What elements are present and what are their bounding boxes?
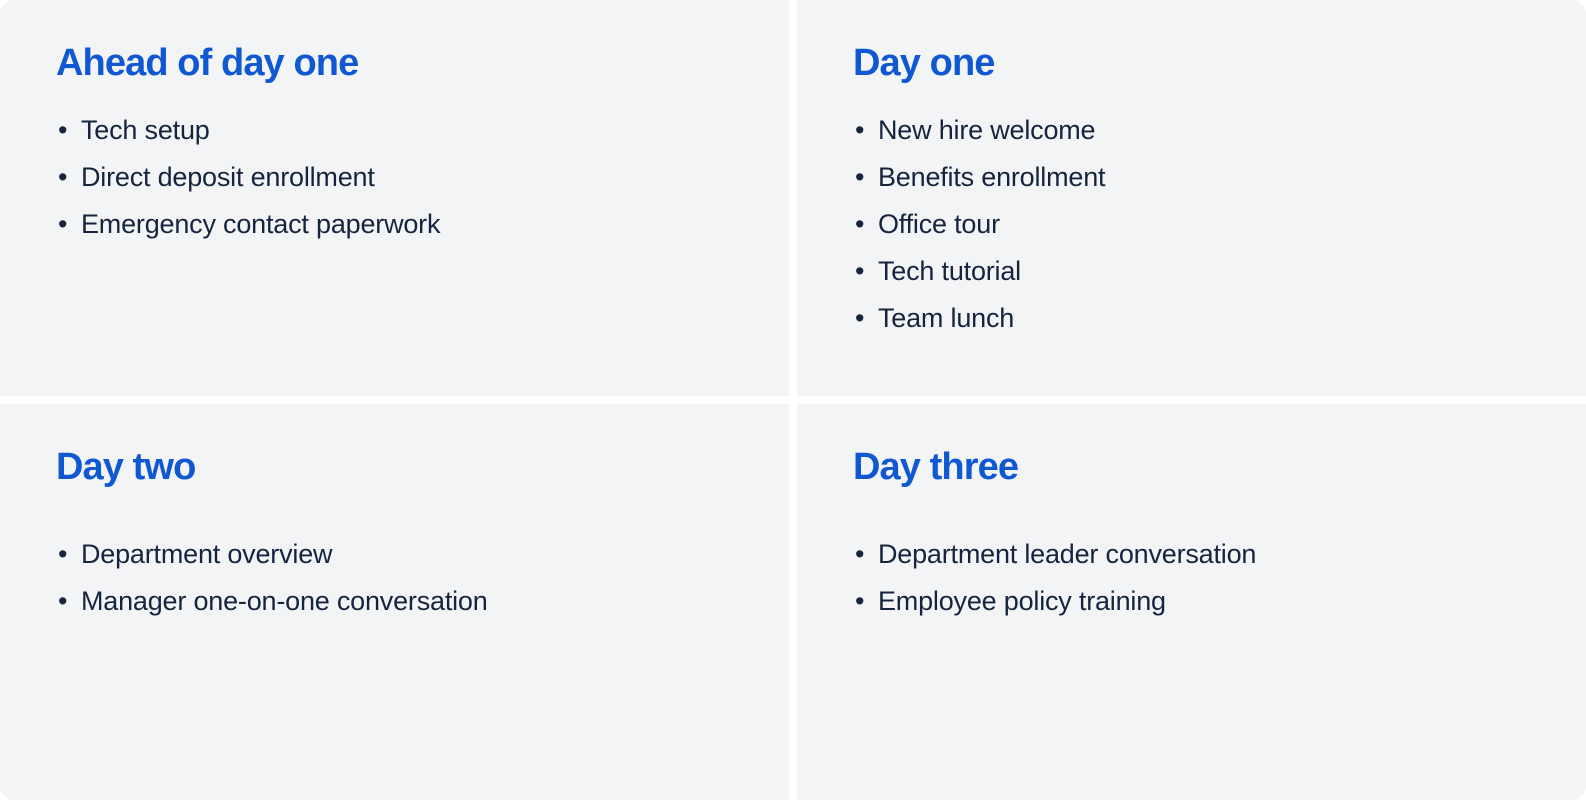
bullet-icon: • [58, 531, 67, 578]
bullet-icon: • [58, 154, 67, 201]
list-item-label: Emergency contact paperwork [81, 209, 440, 239]
bullet-icon: • [855, 295, 864, 342]
bullet-icon: • [855, 531, 864, 578]
list-item-label: Department leader conversation [878, 539, 1256, 569]
list-item: • Department leader conversation [853, 531, 1546, 578]
list-item: • Emergency contact paperwork [56, 201, 749, 248]
bullet-icon: • [58, 201, 67, 248]
panel-day-three: Day three • Department leader conversati… [797, 404, 1586, 800]
list-item: • Direct deposit enrollment [56, 154, 749, 201]
list-item-label: Department overview [81, 539, 332, 569]
panel-list-day-one: • New hire welcome • Benefits enrollment… [853, 107, 1546, 342]
onboarding-timeline-board: Ahead of day one • Tech setup • Direct d… [0, 0, 1586, 800]
list-item: • New hire welcome [853, 107, 1546, 154]
panel-list-ahead-of-day-one: • Tech setup • Direct deposit enrollment… [56, 107, 749, 248]
list-item-label: Benefits enrollment [878, 162, 1105, 192]
list-item: • Manager one-on-one conversation [56, 578, 749, 625]
list-item-label: Employee policy training [878, 586, 1166, 616]
panel-title-day-two: Day two [56, 446, 749, 489]
bullet-icon: • [855, 154, 864, 201]
list-item: • Benefits enrollment [853, 154, 1546, 201]
panel-list-day-two: • Department overview • Manager one-on-o… [56, 531, 749, 625]
panel-title-ahead-of-day-one: Ahead of day one [56, 42, 749, 85]
panel-title-day-one: Day one [853, 42, 1546, 85]
panel-day-two: Day two • Department overview • Manager … [0, 404, 789, 800]
list-item: • Team lunch [853, 295, 1546, 342]
bullet-icon: • [855, 107, 864, 154]
list-item-label: Tech tutorial [878, 256, 1021, 286]
list-item: • Department overview [56, 531, 749, 578]
list-item: • Tech tutorial [853, 248, 1546, 295]
list-item: • Employee policy training [853, 578, 1546, 625]
list-item: • Office tour [853, 201, 1546, 248]
bullet-icon: • [58, 107, 67, 154]
bullet-icon: • [855, 201, 864, 248]
list-item-label: New hire welcome [878, 115, 1095, 145]
panel-day-one: Day one • New hire welcome • Benefits en… [797, 0, 1586, 396]
list-item-label: Tech setup [81, 115, 210, 145]
bullet-icon: • [58, 578, 67, 625]
list-item: • Tech setup [56, 107, 749, 154]
panel-ahead-of-day-one: Ahead of day one • Tech setup • Direct d… [0, 0, 789, 396]
list-item-label: Team lunch [878, 303, 1014, 333]
list-item-label: Office tour [878, 209, 1000, 239]
panel-title-day-three: Day three [853, 446, 1546, 489]
bullet-icon: • [855, 578, 864, 625]
bullet-icon: • [855, 248, 864, 295]
list-item-label: Manager one-on-one conversation [81, 586, 488, 616]
list-item-label: Direct deposit enrollment [81, 162, 375, 192]
panel-list-day-three: • Department leader conversation • Emplo… [853, 531, 1546, 625]
